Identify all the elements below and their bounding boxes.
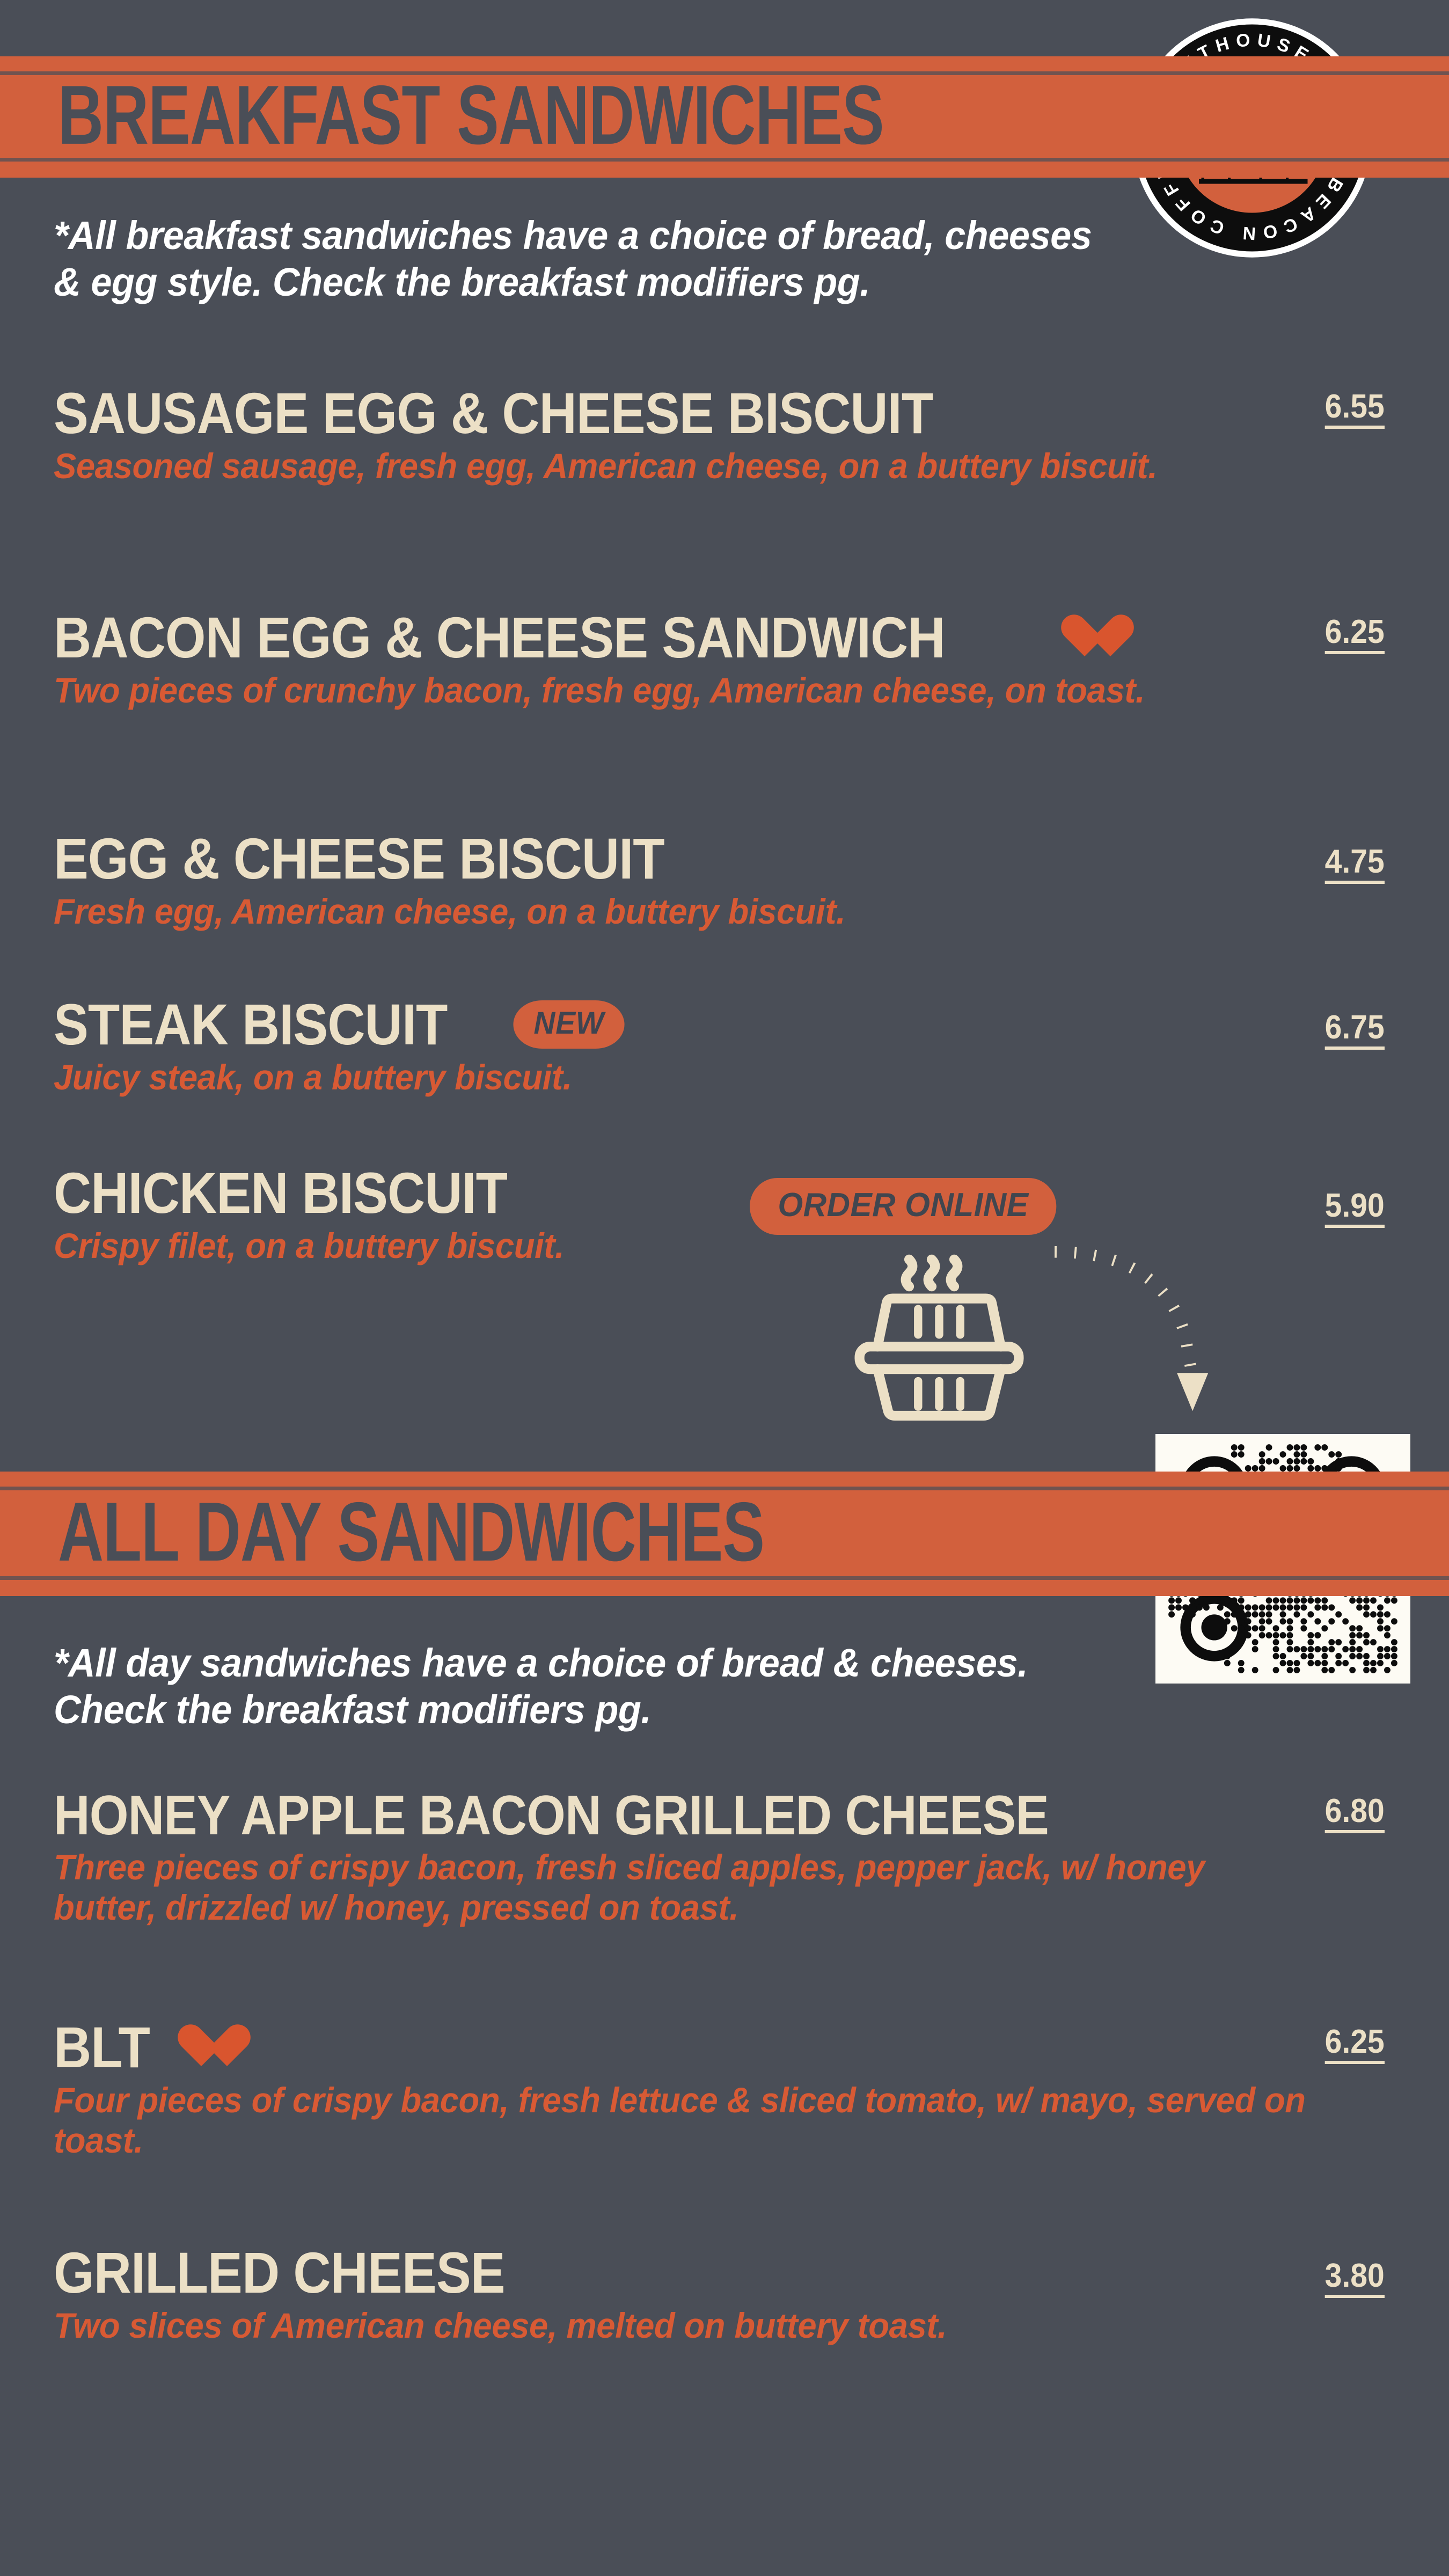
item-description: Seasoned sausage, fresh egg, American ch… bbox=[54, 446, 1306, 486]
item-price: 6.55 bbox=[1325, 390, 1385, 429]
menu-item-grilled-cheese[interactable]: GRILLED CHEESE Two slices of American ch… bbox=[54, 2243, 1385, 2346]
item-name: SAUSAGE EGG & CHEESE BISCUIT bbox=[54, 384, 933, 443]
item-price: 6.75 bbox=[1325, 1011, 1385, 1050]
item-name: GRILLED CHEESE bbox=[54, 2243, 505, 2302]
menu-item-steak-biscuit[interactable]: STEAK BISCUIT NEW Juicy steak, on a butt… bbox=[54, 995, 1385, 1097]
item-name: BLT bbox=[54, 2018, 150, 2077]
item-price: 4.75 bbox=[1325, 845, 1385, 884]
item-description: Two slices of American cheese, melted on… bbox=[54, 2306, 1306, 2346]
item-name: HONEY APPLE BACON GRILLED CHEESE bbox=[54, 1787, 1049, 1844]
breakfast-section-note: *All breakfast sandwiches have a choice … bbox=[54, 212, 1099, 306]
item-description: Four pieces of crispy bacon, fresh lettu… bbox=[54, 2080, 1306, 2161]
menu-item-blt[interactable]: BLT Four pieces of crispy bacon, fresh l… bbox=[54, 2018, 1385, 2161]
item-description: Three pieces of crispy bacon, fresh slic… bbox=[54, 1847, 1306, 1928]
item-price: 6.80 bbox=[1325, 1795, 1385, 1833]
favorite-heart-icon bbox=[1060, 616, 1109, 661]
item-price: 6.25 bbox=[1325, 2025, 1385, 2064]
section-header-breakfast: BREAKFAST SANDWICHES bbox=[0, 56, 1449, 178]
menu-item-egg-cheese-biscuit[interactable]: EGG & CHEESE BISCUIT Fresh egg, American… bbox=[54, 829, 1385, 932]
takeout-box-icon bbox=[826, 1250, 1052, 1428]
item-price: 6.25 bbox=[1325, 616, 1385, 654]
order-online-badge[interactable]: ORDER ONLINE bbox=[750, 1178, 1057, 1235]
new-badge: NEW bbox=[514, 1000, 625, 1049]
item-price: 3.80 bbox=[1325, 2259, 1385, 2298]
menu-item-honey-apple-bacon-grilled-cheese[interactable]: HONEY APPLE BACON GRILLED CHEESE Three p… bbox=[54, 1787, 1385, 1928]
item-description: Two pieces of crunchy bacon, fresh egg, … bbox=[54, 670, 1223, 711]
item-description: Fresh egg, American cheese, on a buttery… bbox=[54, 891, 1306, 932]
item-name: CHICKEN BISCUIT bbox=[54, 1163, 507, 1223]
menu-item-sausage-egg-cheese-biscuit[interactable]: SAUSAGE EGG & CHEESE BISCUIT Seasoned sa… bbox=[54, 384, 1385, 486]
menu-item-bacon-egg-cheese-sandwich[interactable]: BACON EGG & CHEESE SANDWICH Two pieces o… bbox=[54, 608, 1385, 711]
section-title-all-day: ALL DAY SANDWICHES bbox=[58, 1498, 826, 1567]
dotted-curved-arrow-icon bbox=[1052, 1240, 1256, 1417]
item-name: EGG & CHEESE BISCUIT bbox=[54, 829, 664, 888]
all-day-section-note: *All day sandwiches have a choice of bre… bbox=[54, 1640, 1099, 1733]
item-name: STEAK BISCUIT bbox=[54, 995, 448, 1054]
item-description: Juicy steak, on a buttery biscuit. bbox=[54, 1057, 1306, 1097]
favorite-heart-icon bbox=[177, 2025, 226, 2070]
item-price: 5.90 bbox=[1325, 1189, 1385, 1228]
menu-page: LIGHTHOUSE CAFE & BEACON COFFEE bbox=[0, 0, 1449, 2576]
section-title-breakfast: BREAKFAST SANDWICHES bbox=[58, 81, 956, 150]
section-header-all-day: ALL DAY SANDWICHES bbox=[0, 1472, 1449, 1596]
item-name: BACON EGG & CHEESE SANDWICH bbox=[54, 608, 945, 667]
